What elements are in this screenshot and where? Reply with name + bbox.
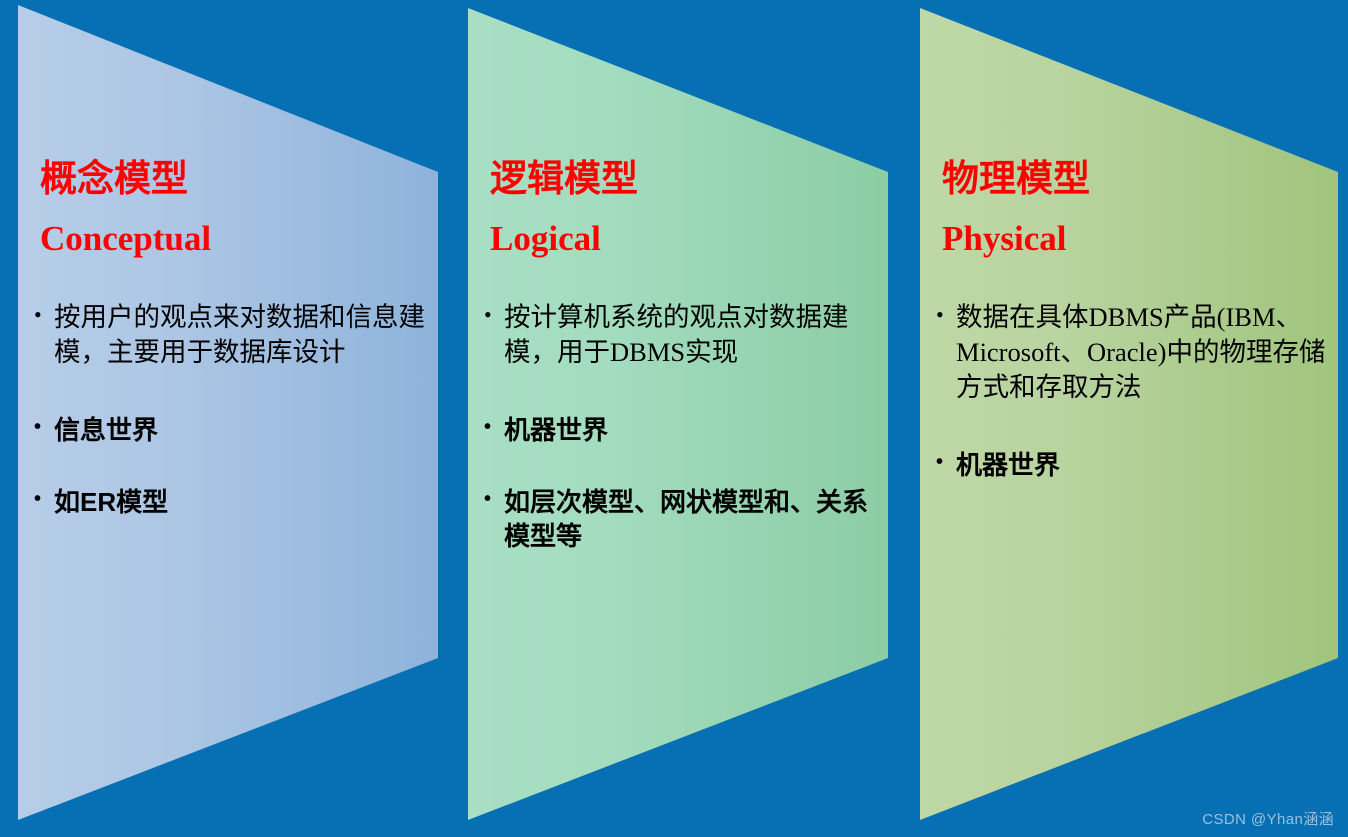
bullet-item: 按计算机系统的观点对数据建模，用于DBMS实现 — [484, 300, 884, 370]
panel-physical-heading-cn: 物理模型 — [942, 160, 1334, 197]
bullet-item: 按用户的观点来对数据和信息建模，主要用于数据库设计 — [34, 300, 434, 370]
bullet-item: 数据在具体DBMS产品(IBM、Microsoft、Oracle)中的物理存储方… — [936, 300, 1334, 405]
bullet-item: 机器世界 — [484, 414, 884, 448]
panel-conceptual-heading-cn: 概念模型 — [40, 160, 434, 197]
panel-physical-content: 物理模型 Physical 数据在具体DBMS产品(IBM、Microsoft、… — [936, 160, 1334, 503]
bullet-item: 如ER模型 — [34, 486, 434, 520]
csdn-watermark: CSDN @Yhan涵涵 — [1202, 808, 1334, 829]
slide-canvas: 概念模型 Conceptual 按用户的观点来对数据和信息建模，主要用于数据库设… — [0, 0, 1348, 837]
panel-logical-content: 逻辑模型 Logical 按计算机系统的观点对数据建模，用于DBMS实现 机器世… — [484, 160, 884, 573]
bullet-item: 如层次模型、网状模型和、关系模型等 — [484, 486, 884, 554]
bullet-item: 信息世界 — [34, 414, 434, 448]
panel-physical: 物理模型 Physical 数据在具体DBMS产品(IBM、Microsoft、… — [902, 0, 1348, 837]
bullet-item: 机器世界 — [936, 449, 1334, 483]
panel-physical-bullet-list: 数据在具体DBMS产品(IBM、Microsoft、Oracle)中的物理存储方… — [936, 300, 1334, 483]
panel-logical: 逻辑模型 Logical 按计算机系统的观点对数据建模，用于DBMS实现 机器世… — [450, 0, 900, 837]
panel-conceptual: 概念模型 Conceptual 按用户的观点来对数据和信息建模，主要用于数据库设… — [0, 0, 450, 837]
panel-logical-heading-cn: 逻辑模型 — [490, 160, 884, 197]
panel-logical-heading-en: Logical — [490, 221, 884, 256]
panel-logical-bullet-list: 按计算机系统的观点对数据建模，用于DBMS实现 机器世界 如层次模型、网状模型和… — [484, 300, 884, 553]
panel-conceptual-bullet-list: 按用户的观点来对数据和信息建模，主要用于数据库设计 信息世界 如ER模型 — [34, 300, 434, 520]
panel-conceptual-content: 概念模型 Conceptual 按用户的观点来对数据和信息建模，主要用于数据库设… — [34, 160, 434, 540]
panel-physical-heading-en: Physical — [942, 221, 1334, 256]
panel-conceptual-heading-en: Conceptual — [40, 221, 434, 256]
